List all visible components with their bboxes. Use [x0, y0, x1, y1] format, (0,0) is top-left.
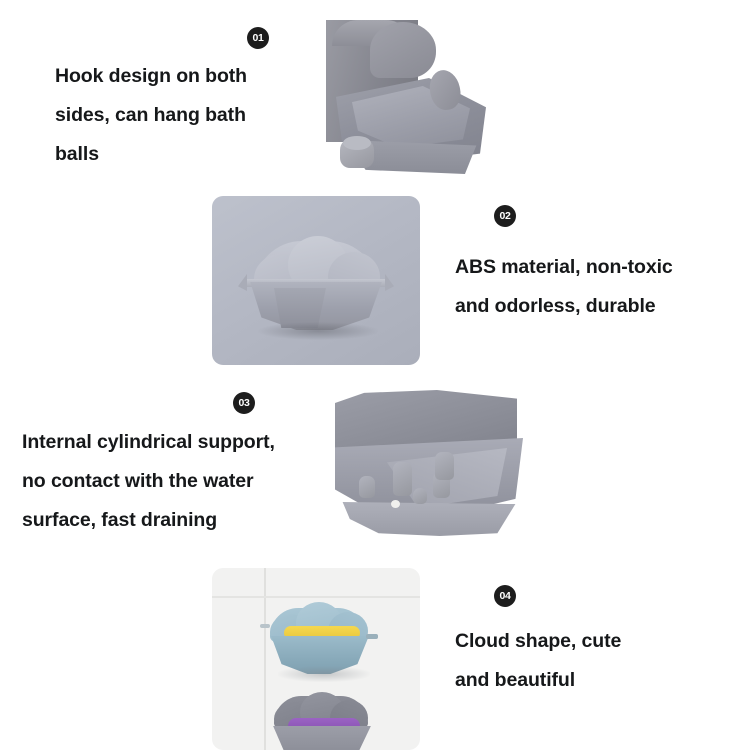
feature-image-02	[212, 196, 420, 365]
dish-cloud-hump	[370, 22, 436, 78]
feature-image-04	[212, 568, 420, 750]
feature-text-02: ABS material, non-toxic and odorless, du…	[455, 248, 735, 326]
cylindrical-support-peg	[393, 462, 412, 496]
feature-badge-03: 03	[233, 392, 255, 414]
support-knob-top	[343, 136, 371, 150]
side-hook-left	[238, 274, 247, 291]
feature-text-04: Cloud shape, cute and beautiful	[455, 622, 735, 700]
blue-dish-shadow	[278, 666, 370, 682]
drain-hole	[391, 500, 400, 508]
feature-badge-02: 02	[494, 205, 516, 227]
gray-dish-bowl	[270, 726, 374, 750]
cloud-dish-shadow	[258, 322, 378, 340]
mount-bracket-left	[260, 624, 270, 628]
cylindrical-support-peg	[435, 452, 454, 480]
infographic-page: 01 Hook design on both sides, can hang b…	[0, 0, 750, 750]
tile-grout-horizontal	[212, 596, 420, 598]
feature-text-01: Hook design on both sides, can hang bath…	[55, 57, 305, 174]
cylindrical-support-peg	[413, 488, 427, 504]
feature-image-03	[335, 390, 535, 550]
cylindrical-support-peg	[359, 476, 375, 498]
feature-image-01	[326, 20, 490, 190]
feature-badge-01: 01	[247, 27, 269, 49]
feature-text-03: Internal cylindrical support, no contact…	[22, 423, 332, 540]
side-hook-right	[385, 274, 394, 291]
dish-base-rim	[339, 502, 519, 536]
mount-bracket-right	[366, 634, 378, 639]
feature-badge-04: 04	[494, 585, 516, 607]
